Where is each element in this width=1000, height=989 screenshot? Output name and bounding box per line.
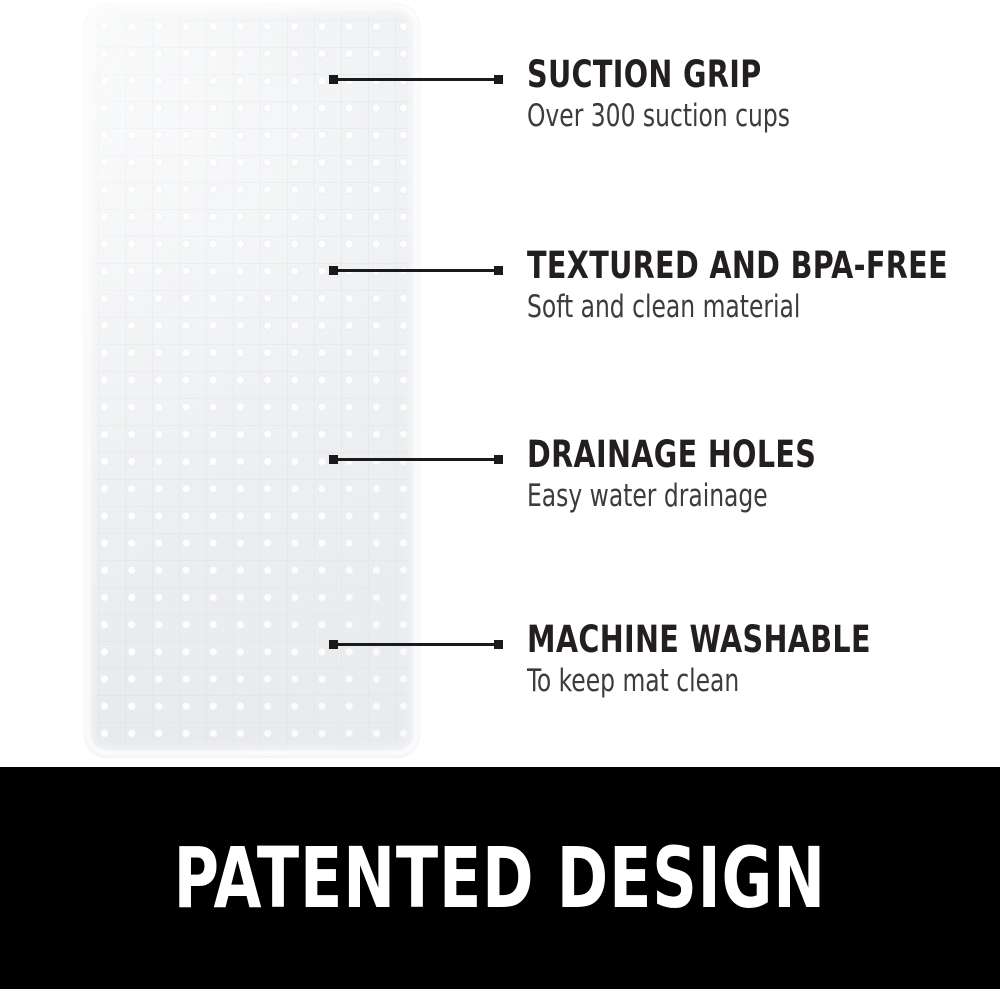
infographic-page: SUCTION GRIP Over 300 suction cups TEXTU… [0,0,1000,989]
callout-subtitle-4: To keep mat clean [527,664,905,698]
callout-text-3: DRAINAGE HOLES Easy water drainage [527,436,977,513]
mat-suction-cup-grid [96,18,408,744]
callout-title-4: MACHINE WASHABLE [527,621,914,659]
callout-title-2: TEXTURED AND BPA-FREE [527,247,914,285]
product-image-area [0,0,500,767]
leader-line-2 [330,269,502,272]
callout-text-1: SUCTION GRIP Over 300 suction cups [527,56,977,133]
callout-subtitle-2: Soft and clean material [527,290,905,324]
banner-title: PATENTED DESIGN [174,836,826,920]
callout-text-4: MACHINE WASHABLE To keep mat clean [527,621,977,698]
leader-line-3 [330,458,502,461]
callout-text-2: TEXTURED AND BPA-FREE Soft and clean mat… [527,247,977,324]
callout-title-3: DRAINAGE HOLES [527,436,914,474]
callout-subtitle-3: Easy water drainage [527,479,905,513]
callout-title-1: SUCTION GRIP [527,56,914,94]
bottom-banner: PATENTED DESIGN [0,767,1000,989]
leader-line-1 [330,78,502,81]
leader-line-4 [330,643,502,646]
callout-subtitle-1: Over 300 suction cups [527,99,905,133]
